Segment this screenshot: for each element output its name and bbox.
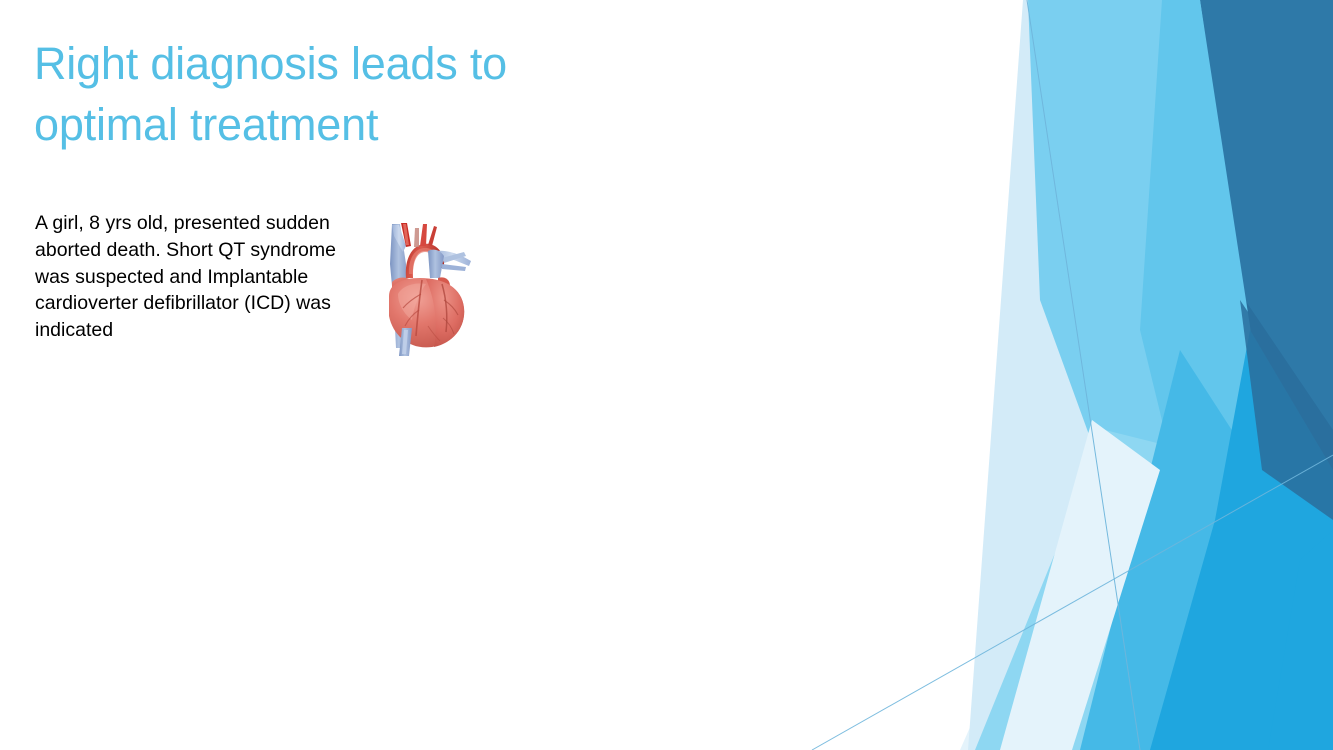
anatomical-heart-illustration[interactable] [376, 216, 476, 362]
carotid-branch-3 [414, 228, 419, 247]
steel-column [1196, 0, 1333, 470]
mid-blue-facet [1080, 350, 1290, 750]
pulmonary-branch-lower [442, 264, 466, 271]
title-placeholder[interactable]: Right diagnosis leads to optimal treatme… [34, 33, 654, 155]
presentation-slide: Right diagnosis leads to optimal treatme… [0, 0, 1333, 750]
content-placeholder[interactable]: A girl, 8 yrs old, presented sudden abor… [35, 210, 365, 344]
bright-edge-strip [1268, 530, 1333, 750]
carotid-branch-2 [428, 226, 437, 246]
hairline-vertical [1027, 0, 1140, 750]
pale-panel-upper [960, 0, 1333, 750]
bright-blue-mass [1150, 330, 1333, 750]
hairline-diagonal [812, 455, 1333, 750]
light-facet-lower [975, 430, 1265, 750]
carotid-branch-1 [420, 224, 427, 246]
sky-blue-slab [1140, 0, 1272, 560]
page-title: Right diagnosis leads to optimal treatme… [34, 33, 654, 155]
dark-accent-wedge [1240, 300, 1333, 520]
light-blue-slab [1028, 0, 1260, 520]
pale-highlight-sliver [1000, 420, 1160, 750]
pale-band [968, 0, 1160, 750]
deep-wedge [1200, 300, 1333, 560]
body-paragraph: A girl, 8 yrs old, presented sudden abor… [35, 210, 365, 344]
pulmonary-vessel-stem [428, 250, 444, 278]
